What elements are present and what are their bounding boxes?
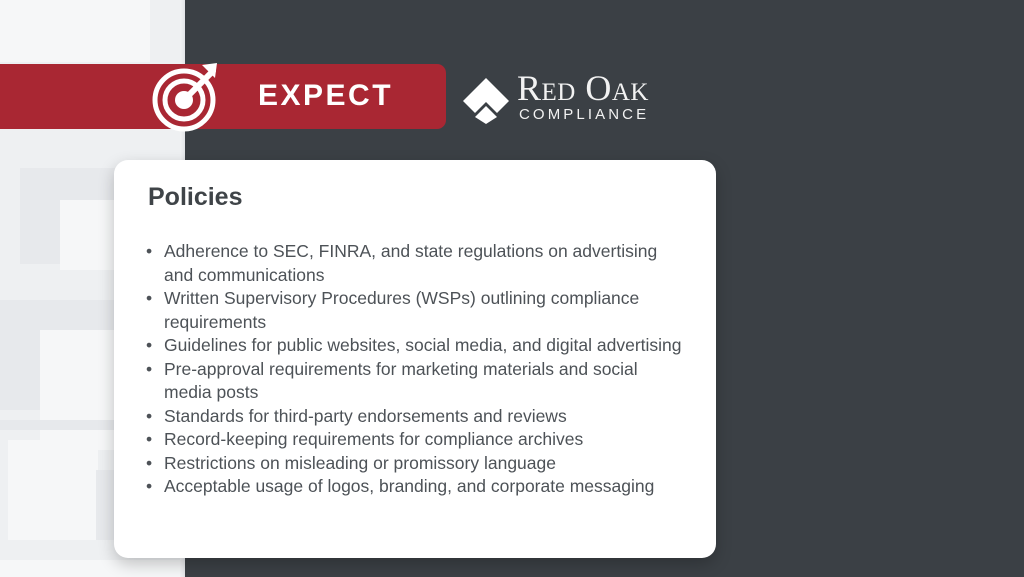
list-item-text: Adherence to SEC, FINRA, and state regul…: [164, 241, 657, 285]
policies-bullet-list: • Adherence to SEC, FINRA, and state reg…: [138, 240, 688, 499]
list-item: • Restrictions on misleading or promisso…: [138, 452, 688, 476]
red-oak-compliance-logo: Red Oak COMPLIANCE: [461, 71, 649, 129]
list-item-text: Record-keeping requirements for complian…: [164, 429, 583, 449]
list-item: • Acceptable usage of logos, branding, a…: [138, 475, 688, 499]
list-item: • Guidelines for public websites, social…: [138, 334, 688, 358]
list-item-text: Pre-approval requirements for marketing …: [164, 359, 638, 403]
list-item: • Written Supervisory Procedures (WSPs) …: [138, 287, 688, 334]
logo-subtitle: COMPLIANCE: [517, 105, 649, 124]
panel-block: [0, 560, 185, 577]
list-item-text: Acceptable usage of logos, branding, and…: [164, 476, 654, 496]
logo-text-group: Red Oak COMPLIANCE: [517, 71, 649, 124]
target-bullseye-arrow-icon: [150, 58, 224, 134]
list-item: • Standards for third-party endorsements…: [138, 405, 688, 429]
list-item-text: Guidelines for public websites, social m…: [164, 335, 682, 355]
list-item: • Pre-approval requirements for marketin…: [138, 358, 688, 405]
list-item-text: Restrictions on misleading or promissory…: [164, 453, 556, 473]
bullet-marker-icon: •: [146, 405, 152, 429]
bullet-marker-icon: •: [146, 428, 152, 452]
logo-name: Red Oak: [517, 71, 649, 105]
bullet-marker-icon: •: [146, 475, 152, 499]
bullet-marker-icon: •: [146, 287, 152, 311]
policies-card: Policies • Adherence to SEC, FINRA, and …: [114, 160, 716, 558]
list-item-text: Standards for third-party endorsements a…: [164, 406, 567, 426]
bullet-marker-icon: •: [146, 334, 152, 358]
bullet-marker-icon: •: [146, 240, 152, 264]
presentation-slide: EXPECT Red Oak COMPLIANCE Policies • Adh…: [0, 0, 1024, 577]
list-item: • Record-keeping requirements for compli…: [138, 428, 688, 452]
panel-block: [8, 440, 98, 540]
list-item: • Adherence to SEC, FINRA, and state reg…: [138, 240, 688, 287]
expect-wordmark: EXPECT: [258, 79, 393, 113]
list-item-text: Written Supervisory Procedures (WSPs) ou…: [164, 288, 639, 332]
page-title: Policies: [148, 182, 688, 212]
panel-block: [0, 0, 150, 62]
bullet-marker-icon: •: [146, 452, 152, 476]
red-oak-diamond-icon: [461, 76, 511, 126]
bullet-marker-icon: •: [146, 358, 152, 382]
